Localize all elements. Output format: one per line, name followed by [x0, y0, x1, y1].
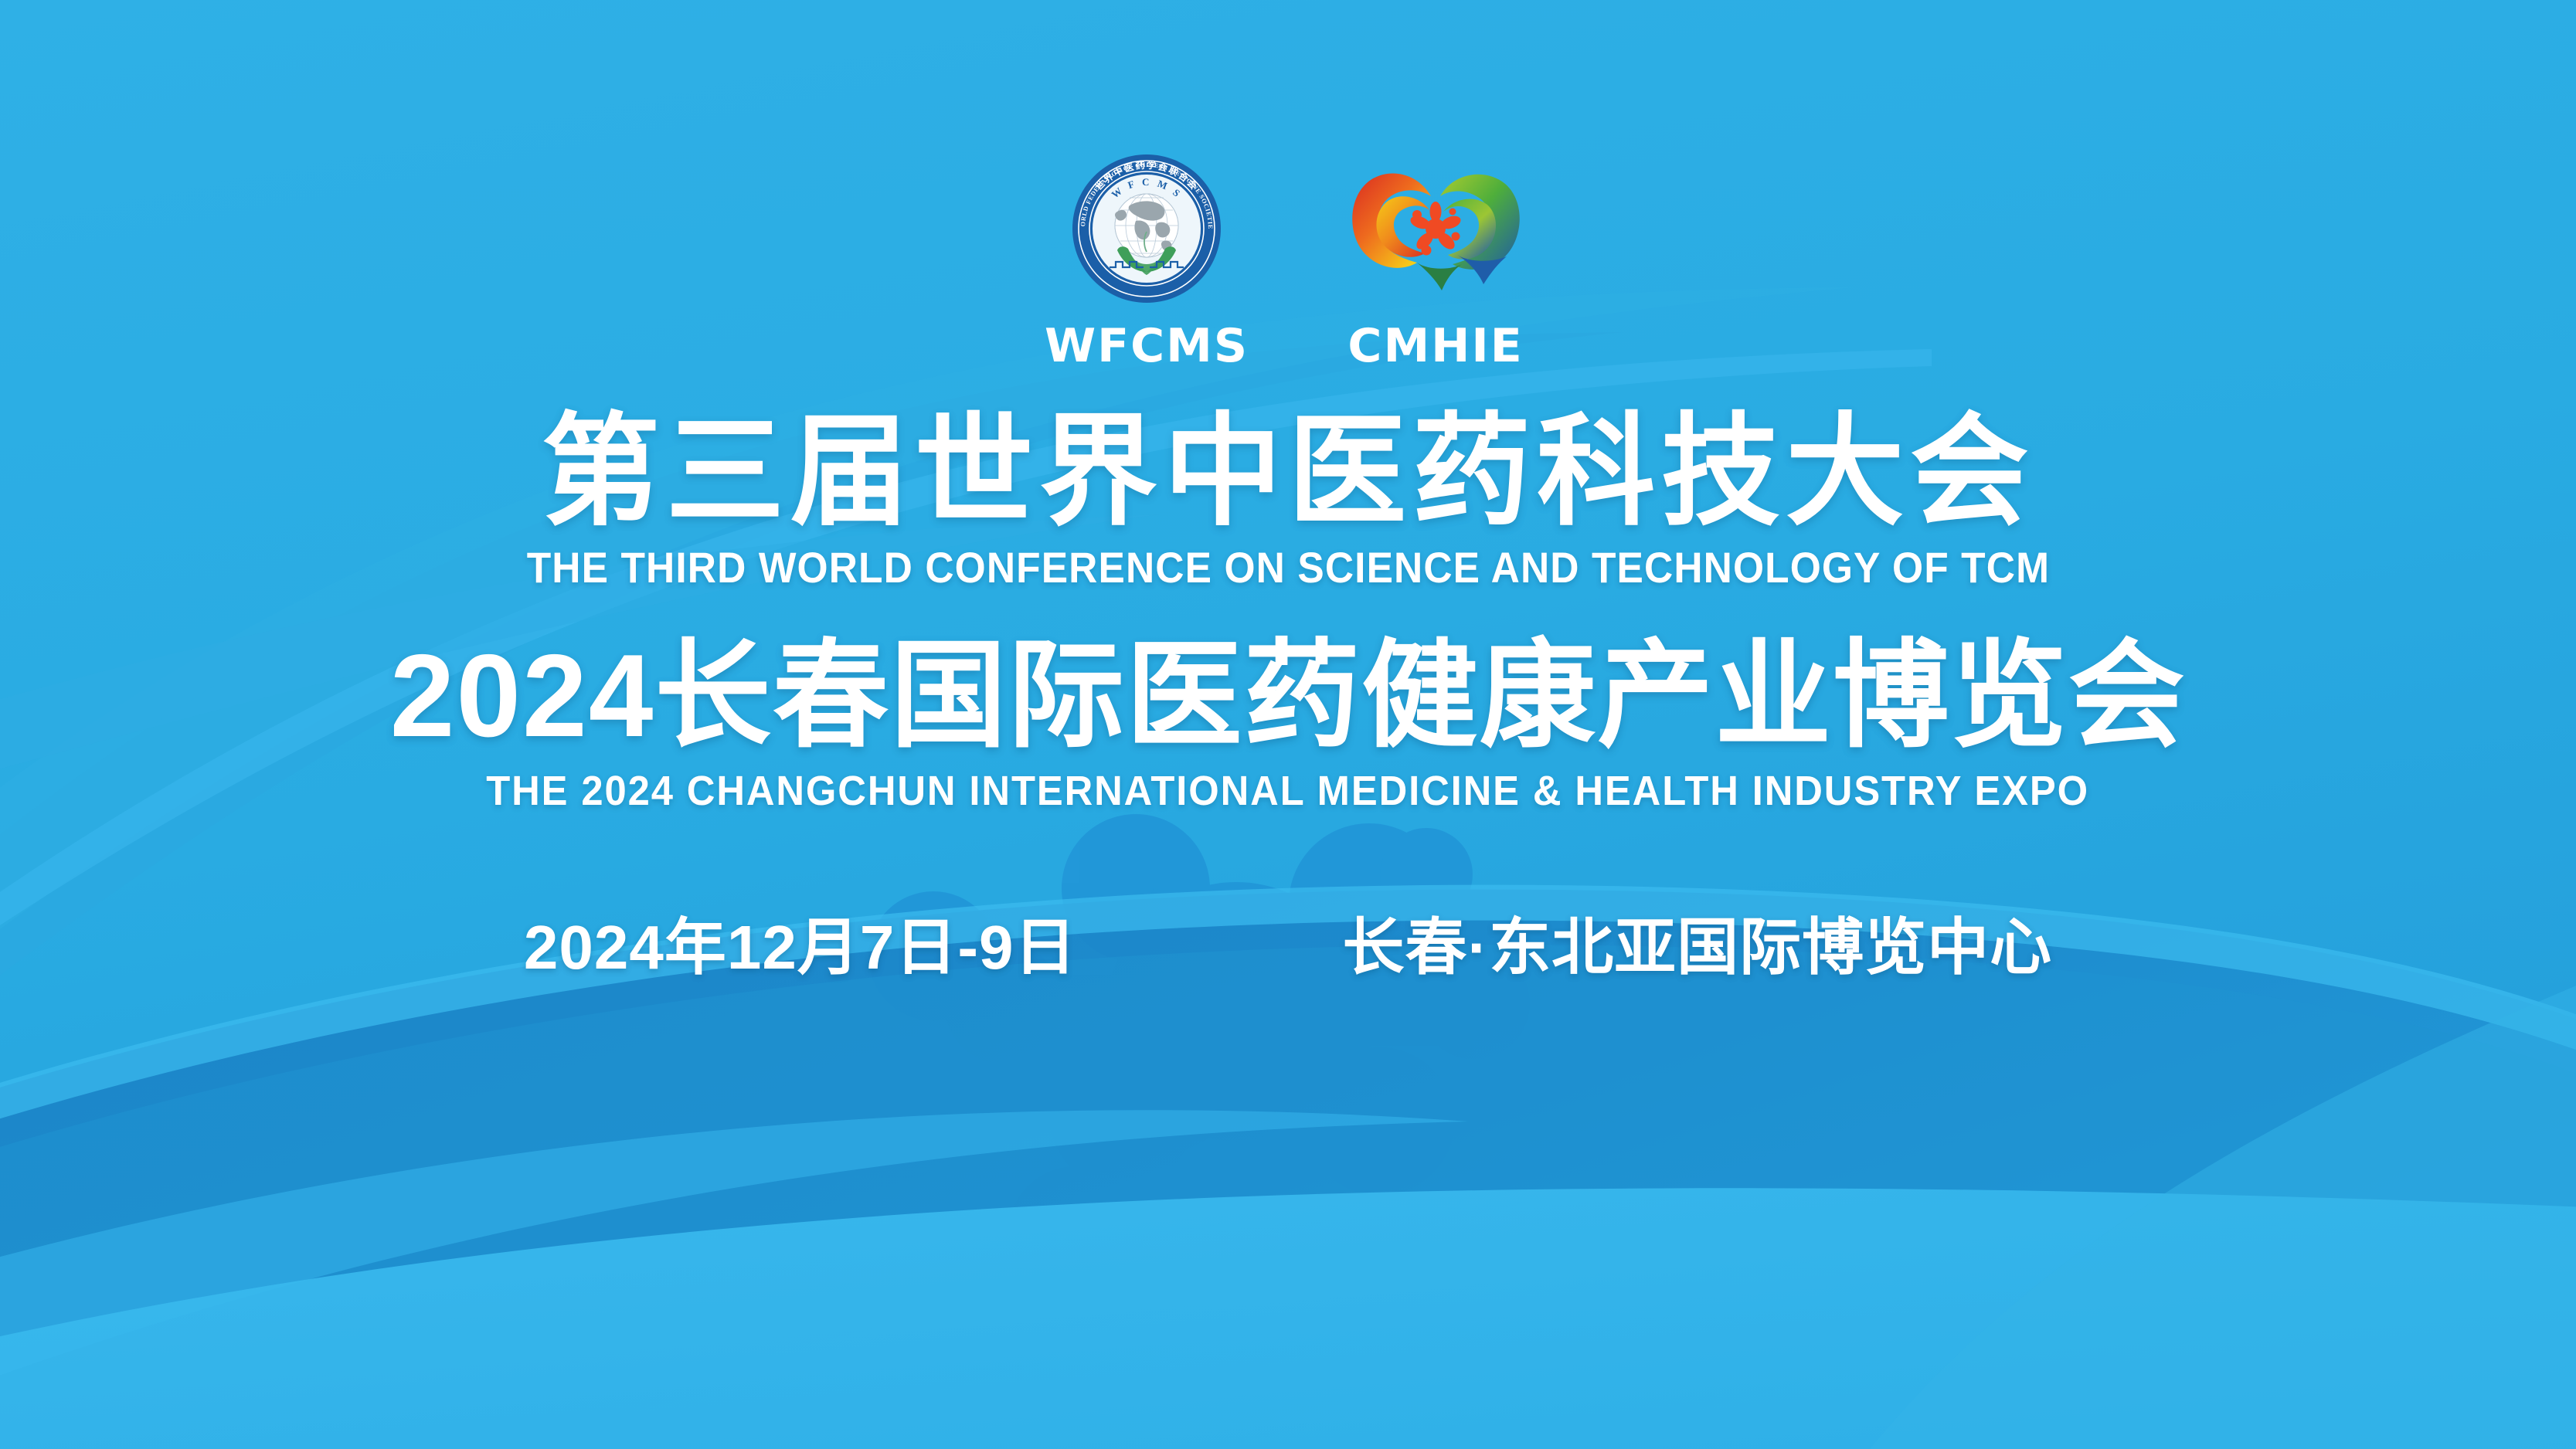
conference-title-en: THE THIRD WORLD CONFERENCE ON SCIENCE AN…	[526, 546, 2049, 589]
cmhie-star	[1409, 202, 1463, 256]
logo-cmhie-caption: CMHIE	[1347, 323, 1523, 369]
logo-wfcms-caption: WFCMS	[1045, 323, 1249, 369]
conference-title-cn: 第三届世界中医药科技大会	[542, 406, 2034, 538]
logo-wfcms: WORLD FEDERATION OF CHINESE MEDICINE SOC…	[1045, 151, 1249, 369]
logo-row: WORLD FEDERATION OF CHINESE MEDICINE SOC…	[1045, 151, 1531, 369]
logo-cmhie: CMHIE	[1340, 154, 1531, 369]
event-venue: 长春·东北亚国际博览中心	[1342, 917, 2052, 979]
event-info-row: 2024年12月7日-9日 长春·东北亚国际博览中心	[524, 917, 2052, 979]
event-date: 2024年12月7日-9日	[524, 917, 1077, 979]
cmhie-heart-ribbon-icon	[1340, 154, 1531, 306]
expo-title-cn: 2024长春国际医药健康产业博览会	[390, 633, 2187, 759]
wfcms-emblem-icon: WORLD FEDERATION OF CHINESE MEDICINE SOC…	[1069, 151, 1224, 306]
conference-banner: WORLD FEDERATION OF CHINESE MEDICINE SOC…	[0, 0, 2576, 1449]
expo-title-en: THE 2024 CHANGCHUN INTERNATIONAL MEDICIN…	[487, 770, 2090, 812]
